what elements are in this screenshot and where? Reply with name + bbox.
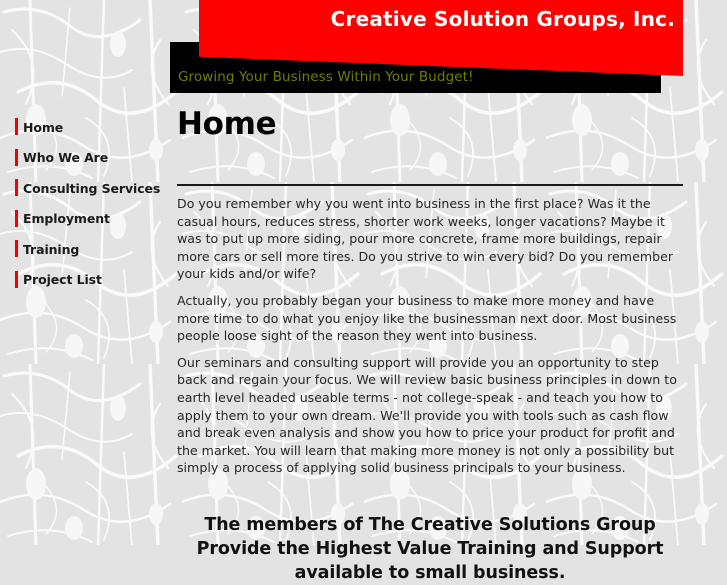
- sidebar-item-label: Employment: [23, 211, 110, 226]
- bullet-tick-icon: [15, 240, 18, 257]
- sidebar-item-training[interactable]: Training: [0, 234, 170, 265]
- site-tagline: Growing Your Business Within Your Budget…: [178, 69, 474, 85]
- content-paragraph: Actually, you probably began your busine…: [177, 292, 683, 345]
- sidebar-nav: Home Who We Are Consulting Services Empl…: [0, 112, 170, 295]
- company-title: Creative Solution Groups, Inc.: [215, 6, 675, 32]
- bullet-tick-icon: [15, 179, 18, 196]
- sidebar-item-label: Training: [23, 242, 79, 257]
- bullet-tick-icon: [15, 118, 18, 135]
- sidebar-item-employment[interactable]: Employment: [0, 204, 170, 235]
- bullet-tick-icon: [15, 210, 18, 227]
- sidebar-item-home[interactable]: Home: [0, 112, 170, 143]
- title-divider: [177, 184, 683, 186]
- sidebar-item-label: Project List: [23, 272, 102, 287]
- content-paragraph: Our seminars and consulting support will…: [177, 354, 683, 477]
- sidebar-item-consulting-services[interactable]: Consulting Services: [0, 173, 170, 204]
- sidebar-item-label: Who We Are: [23, 150, 108, 165]
- sidebar-item-project-list[interactable]: Project List: [0, 265, 170, 296]
- main-content: Home Do you remember why you went into b…: [177, 104, 683, 585]
- sidebar-item-label: Home: [23, 120, 63, 135]
- sidebar-item-label: Consulting Services: [23, 181, 160, 196]
- sidebar-item-who-we-are[interactable]: Who We Are: [0, 143, 170, 174]
- closing-statement: The members of The Creative Solutions Gr…: [177, 513, 683, 585]
- content-paragraph: Do you remember why you went into busine…: [177, 195, 683, 283]
- page-title: Home: [177, 104, 683, 144]
- site-header: Creative Solution Groups, Inc. Growing Y…: [0, 0, 727, 100]
- bullet-tick-icon: [15, 271, 18, 288]
- bullet-tick-icon: [15, 149, 18, 166]
